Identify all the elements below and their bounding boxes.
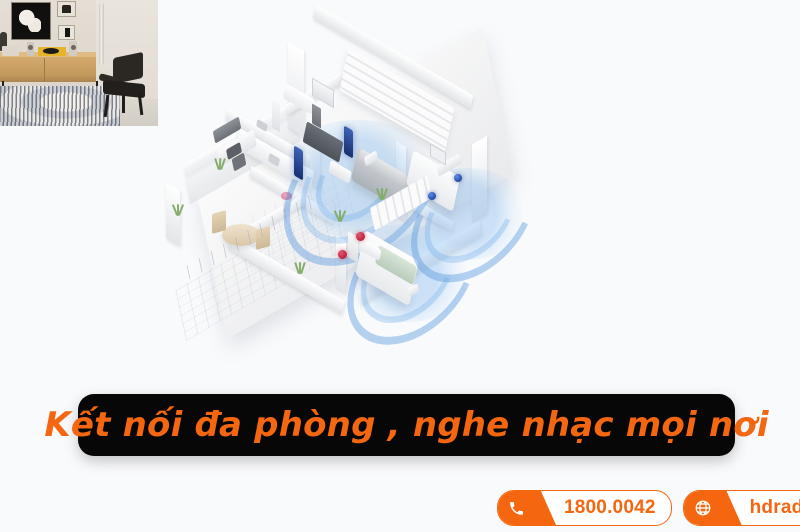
armchair-leg xyxy=(122,95,125,113)
abstract-artwork-small-2 xyxy=(58,25,75,40)
speaker-bedroom-main-2 xyxy=(338,250,347,259)
globe-icon xyxy=(694,499,712,517)
wooden-sideboard xyxy=(0,57,96,82)
turntable xyxy=(38,47,66,56)
poster-canvas: Kết nối đa phòng , nghe nhạc mọi nơi 180… xyxy=(0,0,800,532)
phone-badge-cap xyxy=(498,491,556,525)
speaker-bedroom-second-2 xyxy=(428,192,436,200)
sideboard-seam xyxy=(44,58,45,82)
armchair-leg xyxy=(104,95,110,117)
promo-banner-text: Kết nối đa phòng , nghe nhạc mọi nơi xyxy=(44,405,768,445)
bookshelf-speaker-right xyxy=(69,41,77,56)
phone-icon xyxy=(508,500,525,517)
website-label: hdradio.vn xyxy=(750,497,800,519)
living-room-interior-photo xyxy=(0,0,158,126)
leather-armchair xyxy=(95,55,147,117)
living-floorstanding-speaker-left xyxy=(294,145,303,180)
bookshelf-speaker-left xyxy=(27,42,34,56)
abstract-artwork-small xyxy=(57,1,76,17)
living-floorstanding-speaker-right xyxy=(344,125,353,158)
books-stack xyxy=(2,46,19,56)
phone-badge[interactable]: 1800.0042 xyxy=(497,490,672,526)
abstract-artwork-large xyxy=(11,2,51,40)
dining-chair-left xyxy=(212,210,226,234)
bathroom-shower-panel xyxy=(272,100,280,133)
contact-badges: 1800.0042 hdradio.vn xyxy=(497,491,800,525)
armchair-back xyxy=(113,52,143,84)
promo-banner: Kết nối đa phòng , nghe nhạc mọi nơi xyxy=(78,394,735,456)
phone-number-label: 1800.0042 xyxy=(564,497,656,519)
website-badge[interactable]: hdradio.vn xyxy=(683,490,800,526)
speaker-bedroom-main-1 xyxy=(356,232,365,241)
isometric-apartment-floorplan xyxy=(160,28,650,373)
website-badge-cap xyxy=(684,491,742,525)
speaker-bedroom-second-1 xyxy=(454,174,462,182)
